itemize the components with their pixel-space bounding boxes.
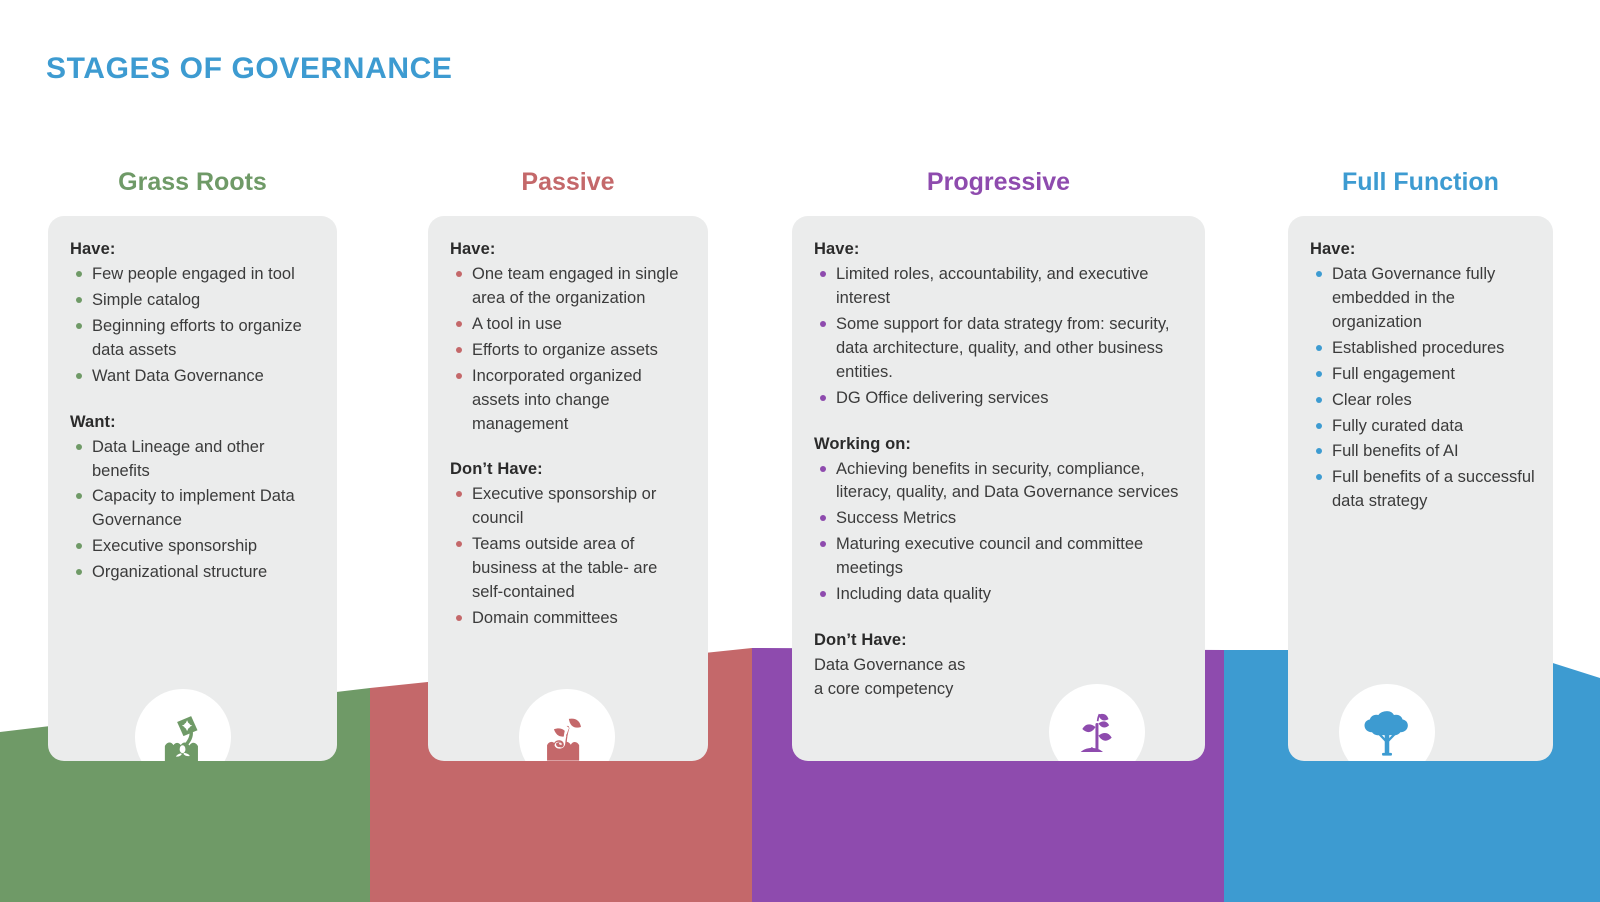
list-item-text: Executive sponsorship or council	[472, 485, 656, 527]
bullet-dot-icon	[820, 541, 826, 547]
section-label-dont-have: Don’t Have:	[814, 631, 1187, 650]
list-item-text: Achieving benefits in security, complian…	[836, 460, 1178, 502]
list-item-text: Teams outside area of business at the ta…	[472, 535, 657, 601]
list-item-text: Some support for data strategy from: sec…	[836, 315, 1170, 381]
list-item: Organizational structure	[68, 561, 319, 585]
young-plant-icon	[1068, 703, 1126, 761]
section-label-have: Have:	[450, 240, 690, 259]
bullet-dot-icon	[1316, 448, 1322, 454]
list-item-text: Maturing executive council and committee…	[836, 535, 1143, 577]
list-item: Data Governance fully embedded in the or…	[1308, 263, 1535, 335]
list-item: Established procedures	[1308, 337, 1535, 361]
column-heading-full-function: Full Function	[1288, 168, 1553, 197]
list-item: Maturing executive council and committee…	[812, 533, 1187, 581]
bullet-dot-icon	[456, 615, 462, 621]
bullet-dot-icon	[456, 541, 462, 547]
list-item: Data Lineage and other benefits	[68, 436, 319, 484]
bullet-dot-icon	[76, 323, 82, 329]
bullet-dot-icon	[1316, 371, 1322, 377]
slide-canvas: STAGES OF GOVERNANCE Grass Roots Have: F…	[0, 0, 1600, 902]
card-grass-roots: Have: Few people engaged in tool Simple …	[48, 216, 337, 761]
bullet-dot-icon	[76, 373, 82, 379]
bullet-dot-icon	[76, 543, 82, 549]
bullet-list-have: Few people engaged in tool Simple catalo…	[68, 263, 319, 389]
section-spacer	[68, 391, 319, 413]
bullet-dot-icon	[1316, 397, 1322, 403]
bullet-dot-icon	[820, 515, 826, 521]
list-item: Beginning efforts to organize data asset…	[68, 315, 319, 363]
icon-badge-grass-roots	[135, 689, 231, 761]
bullet-list-dont-have: Executive sponsorship or council Teams o…	[448, 483, 690, 631]
column-heading-progressive: Progressive	[792, 168, 1205, 197]
list-item: Some support for data strategy from: sec…	[812, 313, 1187, 385]
list-item-text: Full benefits of a successful data strat…	[1332, 468, 1535, 510]
list-item-text: Including data quality	[836, 585, 991, 603]
section-label-dont-have: Don’t Have:	[450, 460, 690, 479]
list-item: Few people engaged in tool	[68, 263, 319, 287]
bullet-dot-icon	[1316, 423, 1322, 429]
icon-badge-passive	[519, 689, 615, 761]
list-item-text: DG Office delivering services	[836, 389, 1048, 407]
bullet-list-have: Limited roles, accountability, and execu…	[812, 263, 1187, 411]
list-item-text: One team engaged in single area of the o…	[472, 265, 678, 307]
list-item: Full engagement	[1308, 363, 1535, 387]
card-passive: Have: One team engaged in single area of…	[428, 216, 708, 761]
list-item-text: Limited roles, accountability, and execu…	[836, 265, 1148, 307]
list-item-text: Fully curated data	[1332, 417, 1463, 435]
card-full-function: Have: Data Governance fully embedded in …	[1288, 216, 1553, 761]
list-item-text: A tool in use	[472, 315, 562, 333]
list-item: Incorporated organized assets into chang…	[448, 365, 690, 437]
list-item: Capacity to implement Data Governance	[68, 485, 319, 533]
list-item-text: Beginning efforts to organize data asset…	[92, 317, 302, 359]
bullet-dot-icon	[820, 466, 826, 472]
list-item: Teams outside area of business at the ta…	[448, 533, 690, 605]
bullet-dot-icon	[456, 321, 462, 327]
list-item-text: Success Metrics	[836, 509, 956, 527]
section-text-line: Data Governance as	[814, 654, 1187, 678]
list-item: Efforts to organize assets	[448, 339, 690, 363]
bullet-dot-icon	[456, 347, 462, 353]
column-heading-grass-roots: Grass Roots	[48, 168, 337, 197]
section-label-want: Want:	[70, 413, 319, 432]
list-item-text: Full engagement	[1332, 365, 1455, 383]
bullet-dot-icon	[820, 321, 826, 327]
list-item: Simple catalog	[68, 289, 319, 313]
list-item: Executive sponsorship	[68, 535, 319, 559]
list-item-text: Incorporated organized assets into chang…	[472, 367, 642, 433]
bullet-dot-icon	[820, 591, 826, 597]
seed-packet-icon	[154, 708, 212, 761]
sprout-in-soil-icon	[538, 708, 596, 761]
tree-icon	[1358, 703, 1416, 761]
section-label-have: Have:	[1310, 240, 1535, 259]
list-item-text: Capacity to implement Data Governance	[92, 487, 295, 529]
bullet-list-have: One team engaged in single area of the o…	[448, 263, 690, 436]
bullet-dot-icon	[76, 493, 82, 499]
list-item-text: Domain committees	[472, 609, 618, 627]
list-item: Fully curated data	[1308, 415, 1535, 439]
bullet-dot-icon	[456, 271, 462, 277]
bullet-list-have: Data Governance fully embedded in the or…	[1308, 263, 1535, 514]
list-item: A tool in use	[448, 313, 690, 337]
list-item-text: Simple catalog	[92, 291, 200, 309]
list-item-text: Organizational structure	[92, 563, 267, 581]
list-item: Success Metrics	[812, 507, 1187, 531]
card-progressive: Have: Limited roles, accountability, and…	[792, 216, 1205, 761]
bullet-dot-icon	[1316, 345, 1322, 351]
list-item: Want Data Governance	[68, 365, 319, 389]
list-item: Executive sponsorship or council	[448, 483, 690, 531]
section-label-have: Have:	[70, 240, 319, 259]
section-spacer	[812, 609, 1187, 631]
list-item: Domain committees	[448, 607, 690, 631]
bullet-list-working-on: Achieving benefits in security, complian…	[812, 458, 1187, 608]
bullet-dot-icon	[76, 444, 82, 450]
bullet-dot-icon	[76, 271, 82, 277]
bullet-dot-icon	[456, 491, 462, 497]
list-item-text: Data Governance fully embedded in the or…	[1332, 265, 1495, 331]
list-item-text: Data Lineage and other benefits	[92, 438, 264, 480]
list-item-text: Few people engaged in tool	[92, 265, 295, 283]
list-item: Full benefits of a successful data strat…	[1308, 466, 1535, 514]
list-item-text: Established procedures	[1332, 339, 1504, 357]
section-label-have: Have:	[814, 240, 1187, 259]
list-item: Full benefits of AI	[1308, 440, 1535, 464]
list-item: Limited roles, accountability, and execu…	[812, 263, 1187, 311]
bullet-dot-icon	[76, 569, 82, 575]
list-item-text: Clear roles	[1332, 391, 1412, 409]
list-item: Clear roles	[1308, 389, 1535, 413]
bullet-list-want: Data Lineage and other benefits Capacity…	[68, 436, 319, 586]
list-item-text: Efforts to organize assets	[472, 341, 658, 359]
list-item-text: Full benefits of AI	[1332, 442, 1459, 460]
section-spacer	[812, 413, 1187, 435]
list-item-text: Executive sponsorship	[92, 537, 257, 555]
bullet-dot-icon	[820, 395, 826, 401]
list-item: DG Office delivering services	[812, 387, 1187, 411]
list-item: Including data quality	[812, 583, 1187, 607]
icon-badge-full-function	[1339, 684, 1435, 761]
page-title: STAGES OF GOVERNANCE	[46, 52, 452, 86]
bullet-dot-icon	[76, 297, 82, 303]
list-item: Achieving benefits in security, complian…	[812, 458, 1187, 506]
bullet-dot-icon	[1316, 474, 1322, 480]
section-label-working-on: Working on:	[814, 435, 1187, 454]
section-spacer	[448, 438, 690, 460]
bullet-dot-icon	[820, 271, 826, 277]
list-item-text: Want Data Governance	[92, 367, 264, 385]
list-item: One team engaged in single area of the o…	[448, 263, 690, 311]
bullet-dot-icon	[1316, 271, 1322, 277]
column-heading-passive: Passive	[428, 168, 708, 197]
bullet-dot-icon	[456, 373, 462, 379]
